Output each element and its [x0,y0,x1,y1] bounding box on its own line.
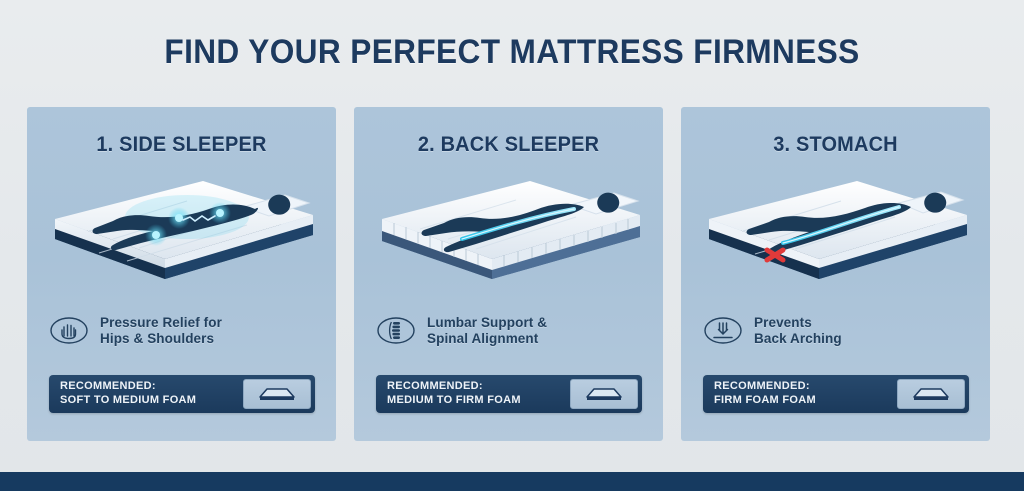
down-arrow-to-line-icon [703,316,743,345]
benefit-line-2: Spinal Alignment [427,331,547,347]
recommendation-label: RECOMMENDED: [387,380,570,394]
benefit-text: Lumbar Support & Spinal Alignment [427,315,547,347]
benefit-line-2: Back Arching [754,331,842,347]
benefit-line-1: Pressure Relief for [100,315,222,331]
recommendation-text: RECOMMENDED: MEDIUM TO FIRM FOAM [376,375,570,413]
bottom-accent-bar [0,472,1024,491]
benefit-line-1: Prevents [754,315,842,331]
card-title: 3. STOMACH [689,133,983,157]
stomach-sleeper-illustration [691,169,980,279]
back-sleeper-illustration [364,169,653,279]
side-sleeper-illustration [37,169,326,279]
recommendation-badge[interactable]: RECOMMENDED: SOFT TO MEDIUM FOAM [49,375,315,413]
benefit-row: Lumbar Support & Spinal Alignment [376,315,648,347]
benefit-line-1: Lumbar Support & [427,315,547,331]
card-title: 2. BACK SLEEPER [362,133,656,157]
page-title: FIND YOUR PERFECT MATTRESS FIRMNESS [36,33,988,72]
mattress-slab-icon [897,379,965,409]
benefit-text: Prevents Back Arching [754,315,842,347]
benefit-row: Prevents Back Arching [703,315,975,347]
recommendation-badge[interactable]: RECOMMENDED: FIRM FOAM FOAM [703,375,969,413]
recommendation-label: RECOMMENDED: [60,380,243,394]
recommendation-badge[interactable]: RECOMMENDED: MEDIUM TO FIRM FOAM [376,375,642,413]
mattress-slab-icon [243,379,311,409]
benefit-line-2: Hips & Shoulders [100,331,222,347]
benefit-text: Pressure Relief for Hips & Shoulders [100,315,222,347]
spine-icon [376,316,416,345]
recommendation-value: SOFT TO MEDIUM FOAM [60,394,243,408]
infographic-page: FIND YOUR PERFECT MATTRESS FIRMNESS 1. S… [0,0,1024,491]
mattress-slab-icon [570,379,638,409]
card-title: 1. SIDE SLEEPER [35,133,329,157]
card-stomach-sleeper[interactable]: 3. STOMACH [681,107,990,441]
recommendation-text: RECOMMENDED: FIRM FOAM FOAM [703,375,897,413]
benefit-row: Pressure Relief for Hips & Shoulders [49,315,321,347]
card-list: 1. SIDE SLEEPER [27,107,995,441]
card-side-sleeper[interactable]: 1. SIDE SLEEPER [27,107,336,441]
hand-pressure-icon [49,316,89,345]
recommendation-value: FIRM FOAM FOAM [714,394,897,408]
recommendation-label: RECOMMENDED: [714,380,897,394]
card-back-sleeper[interactable]: 2. BACK SLEEPER [354,107,663,441]
recommendation-value: MEDIUM TO FIRM FOAM [387,394,570,408]
recommendation-text: RECOMMENDED: SOFT TO MEDIUM FOAM [49,375,243,413]
